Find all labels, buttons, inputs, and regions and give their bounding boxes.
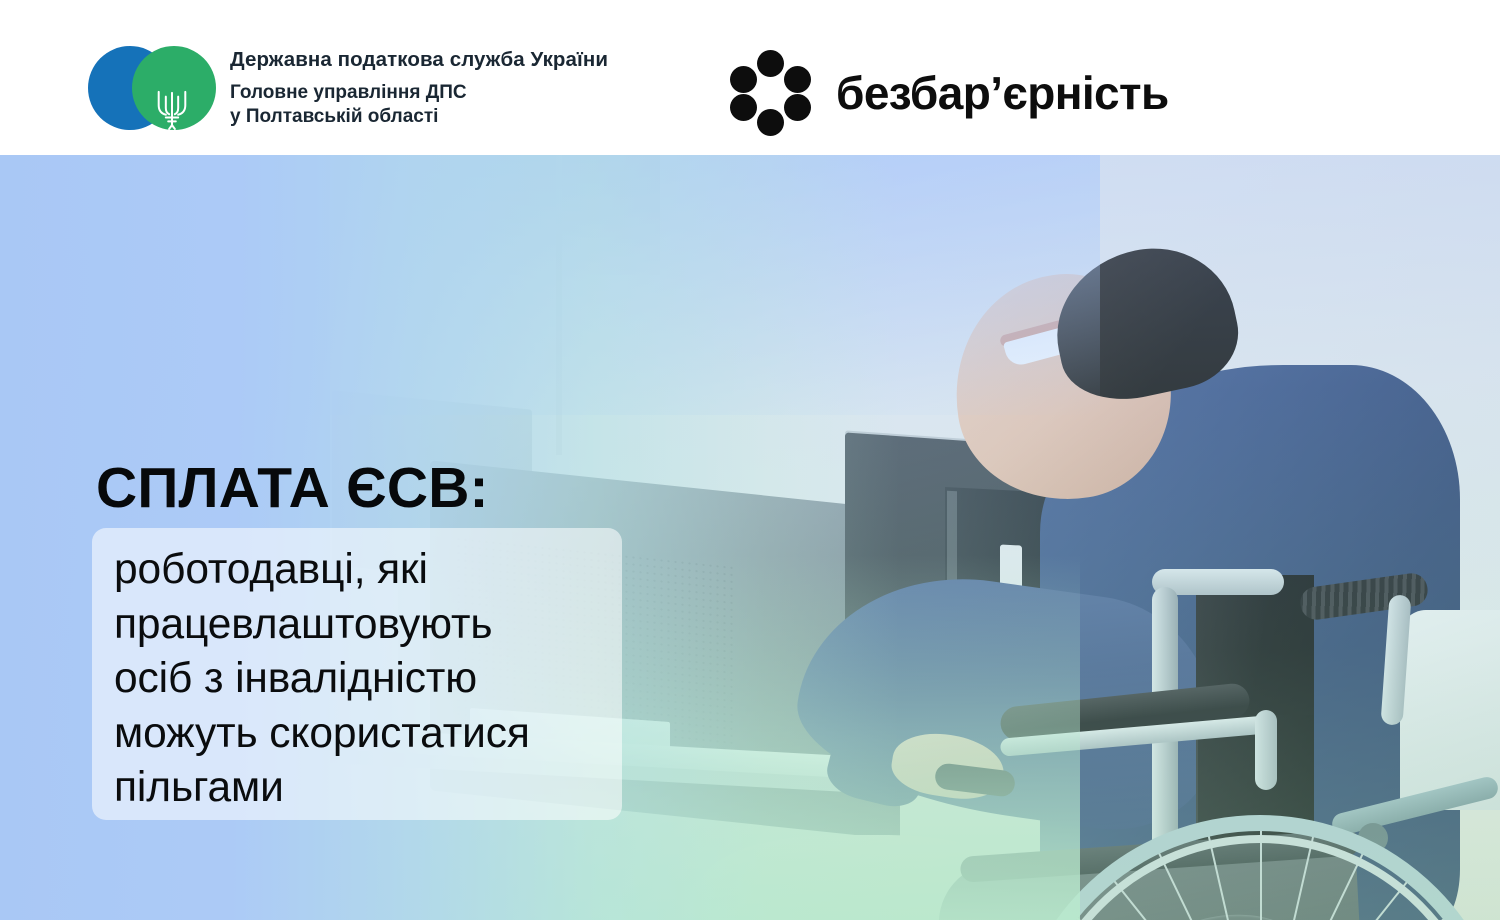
dps-logo-text: Державна податкова служба України Головн…: [230, 47, 608, 129]
dps-title-line2: Головне управління ДПС: [230, 81, 608, 105]
artwork-area: СПЛАТА ЄСВ: роботодавці, які працевлашто…: [0, 155, 1500, 920]
body-text: роботодавці, які працевлаштовують осіб з…: [114, 543, 754, 816]
trident-icon: [153, 86, 191, 132]
header-bar: Державна податкова служба України Головн…: [0, 0, 1500, 155]
ring-dot: [730, 66, 757, 93]
ring-dot: [784, 66, 811, 93]
body-line-3: осіб з інвалідністю: [114, 652, 754, 707]
six-dot-ring-icon: [728, 50, 814, 136]
ring-dot: [784, 94, 811, 121]
barrier-free-wordmark: безбар’єрність: [836, 70, 1169, 116]
ring-dot: [757, 109, 784, 136]
dps-logo: Державна податкова служба України Головн…: [88, 40, 608, 136]
ring-dot: [757, 50, 784, 77]
body-line-4: можуть скористатися: [114, 707, 754, 762]
dps-logo-marks: [88, 40, 216, 136]
page-title: СПЛАТА ЄСВ:: [96, 460, 489, 517]
poster: Державна податкова служба України Головн…: [0, 0, 1500, 920]
body-line-2: працевлаштовують: [114, 598, 754, 653]
body-line-5: пільгами: [114, 761, 754, 816]
ring-dot: [730, 94, 757, 121]
dps-title-line1: Державна податкова служба України: [230, 47, 608, 73]
barrier-free-logo: безбар’єрність: [728, 50, 1169, 136]
body-line-1: роботодавці, які: [114, 543, 754, 598]
dps-title-line3: у Полтавській області: [230, 105, 608, 129]
